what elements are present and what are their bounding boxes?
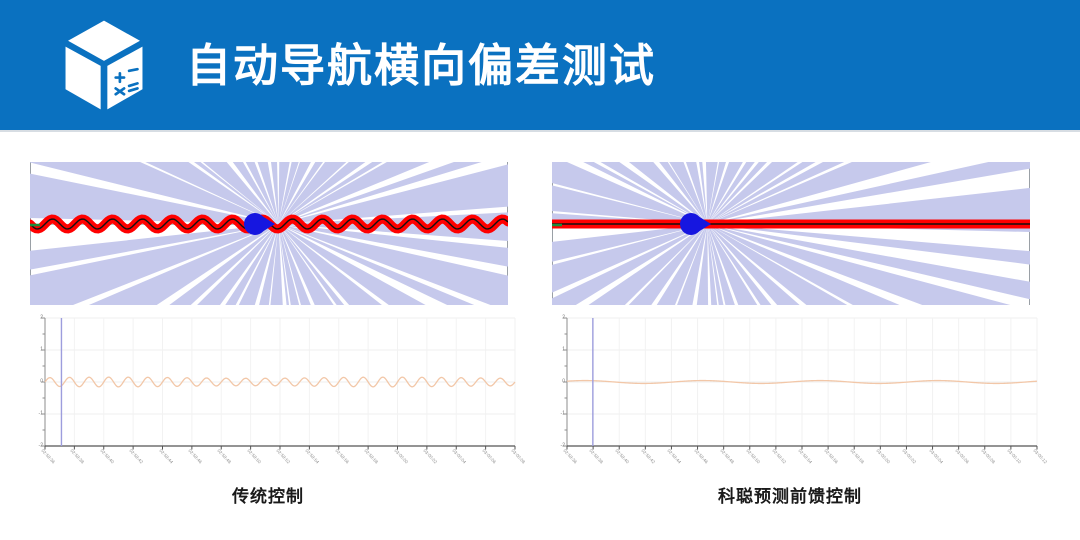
x-axis-tick-label: 02:59:38: [70, 448, 86, 465]
x-axis-tick-label: 02:59:44: [158, 448, 174, 465]
vehicle-path-line: [552, 162, 1030, 305]
x-axis-tick-label: 03:00:02: [422, 448, 438, 465]
slide-root: 自动导航横向偏差测试 210-1-2 02:59:3602:59:3802:59…: [0, 0, 1080, 540]
header-divider: [0, 130, 1080, 132]
x-axis-tick-label: 03:00:04: [928, 448, 944, 465]
y-axis-tick-label: 1: [40, 348, 43, 353]
page-header: 自动导航横向偏差测试: [0, 0, 1080, 130]
x-axis-tick-label: 02:59:36: [562, 448, 578, 465]
y-axis-tick-label: 0: [562, 380, 565, 385]
y-axis-tick-label: 2: [40, 316, 43, 321]
x-axis-tick-label: 03:00:00: [876, 448, 892, 465]
panel-kecong-control: 210-1-2 02:59:3602:59:3802:59:4002:59:42…: [540, 134, 1040, 540]
x-axis-tick-label: 03:00:08: [510, 448, 526, 465]
panel-caption-right: 科聪预测前馈控制: [540, 482, 1040, 507]
x-axis-tick-label: 02:59:46: [187, 448, 203, 465]
robot-heading-icon: [698, 216, 711, 232]
x-axis-tick-label: 02:59:58: [850, 448, 866, 465]
page-title: 自动导航横向偏差测试: [186, 43, 656, 88]
x-axis-tick-label: 02:59:54: [305, 448, 321, 465]
y-axis-tick-label: 2: [562, 316, 565, 321]
lidar-map-view-right: [552, 162, 1030, 305]
x-axis-tick-label: 02:59:56: [823, 448, 839, 465]
x-axis-tick-label: 02:59:44: [667, 448, 683, 465]
x-axis-tick-label: 02:59:50: [745, 448, 761, 465]
x-axis-tick-label: 02:59:36: [40, 448, 56, 465]
x-axis-tick-label: 02:59:58: [363, 448, 379, 465]
comparison-panels: 210-1-2 02:59:3602:59:3802:59:4002:59:42…: [0, 134, 1080, 540]
x-axis-tick-label: 03:00:10: [1006, 448, 1022, 465]
vehicle-path-line: [30, 162, 508, 305]
x-axis-tick-label: 03:00:04: [452, 448, 468, 465]
robot-heading-icon: [262, 216, 275, 232]
y-axis-tick-label: -1: [39, 412, 43, 417]
x-axis-tick-label: 02:59:42: [641, 448, 657, 465]
x-axis-labels: 02:59:3602:59:3802:59:4002:59:4202:59:44…: [18, 446, 518, 486]
x-axis-tick-label: 02:59:56: [334, 448, 350, 465]
x-axis-tick-label: 03:00:02: [902, 448, 918, 465]
x-axis-labels: 02:59:3602:59:3802:59:4002:59:4202:59:44…: [540, 446, 1040, 486]
x-axis-tick-label: 03:00:00: [393, 448, 409, 465]
x-axis-tick-label: 03:00:06: [481, 448, 497, 465]
x-axis-tick-label: 02:59:52: [275, 448, 291, 465]
y-axis-tick-label: 0: [40, 380, 43, 385]
x-axis-tick-label: 02:59:48: [217, 448, 233, 465]
x-axis-tick-label: 02:59:38: [588, 448, 604, 465]
x-axis-tick-label: 03:00:08: [980, 448, 996, 465]
x-axis-tick-label: 02:59:48: [719, 448, 735, 465]
x-axis-tick-label: 02:59:40: [99, 448, 115, 465]
x-axis-tick-label: 02:59:50: [246, 448, 262, 465]
x-axis-tick-label: 02:59:52: [771, 448, 787, 465]
x-axis-tick-label: 03:00:06: [954, 448, 970, 465]
deviation-chart-right: 210-1-2 02:59:3602:59:3802:59:4002:59:42…: [540, 310, 1040, 486]
panel-caption-left: 传统控制: [18, 482, 518, 507]
x-axis-tick-label: 02:59:42: [128, 448, 144, 465]
x-axis-tick-label: 02:59:54: [797, 448, 813, 465]
x-axis-tick-label: 02:59:40: [615, 448, 631, 465]
x-axis-tick-label: 02:59:46: [693, 448, 709, 465]
panel-traditional-control: 210-1-2 02:59:3602:59:3802:59:4002:59:42…: [18, 134, 518, 540]
lidar-map-view-left: [30, 162, 508, 305]
deviation-chart-left: 210-1-2 02:59:3602:59:3802:59:4002:59:42…: [18, 310, 518, 486]
y-axis-tick-label: -1: [561, 412, 565, 417]
math-cube-icon: [62, 19, 146, 111]
y-axis-tick-label: 1: [562, 348, 565, 353]
x-axis-tick-label: 03:00:12: [1032, 448, 1048, 465]
